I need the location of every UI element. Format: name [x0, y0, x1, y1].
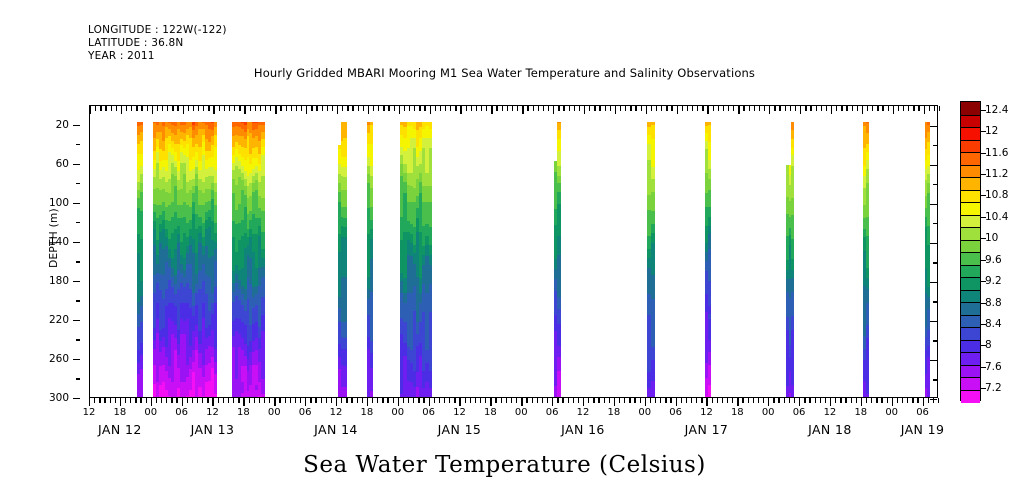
time-tick: [835, 398, 836, 403]
profile-slice: [261, 106, 265, 397]
time-tick-top: [116, 106, 117, 111]
time-tick-top: [141, 106, 142, 111]
time-tick-top: [569, 106, 570, 111]
time-tick: [418, 398, 419, 403]
time-tick-top: [136, 106, 137, 111]
colorbar-tick: [981, 110, 986, 111]
time-tick-top: [208, 106, 209, 111]
time-tick: [423, 398, 424, 403]
time-tick-label: 00: [268, 407, 281, 418]
colorbar-tick: [981, 153, 986, 154]
time-tick-top: [486, 106, 487, 111]
time-tick-top: [702, 106, 703, 111]
time-tick-label: 18: [113, 407, 126, 418]
time-tick-top: [491, 106, 492, 114]
time-tick: [171, 398, 172, 403]
time-tick-top: [574, 106, 575, 111]
time-tick: [444, 398, 445, 403]
colorbar-band-divider: [961, 365, 980, 366]
time-tick-top: [280, 106, 281, 111]
time-tick-top: [579, 106, 580, 111]
time-tick-top: [831, 106, 832, 114]
time-tick: [197, 398, 198, 403]
time-tick-top: [250, 106, 251, 111]
time-tick: [387, 398, 388, 403]
depth-tick-right: [933, 262, 937, 263]
time-tick-top: [383, 106, 384, 111]
time-tick-top: [337, 106, 338, 114]
colorbar-tick-label: 8.8: [985, 297, 1002, 309]
temperature-section-plot: [89, 105, 938, 398]
time-tick: [923, 398, 924, 406]
time-tick: [403, 398, 404, 403]
time-tick: [681, 398, 682, 403]
colorbar-tick-label: 8.4: [985, 318, 1002, 330]
time-tick-label: 00: [391, 407, 404, 418]
longitude-text: LONGITUDE : 122W(-122): [88, 24, 227, 37]
time-tick-label: 00: [638, 407, 651, 418]
colorbar-band-divider: [961, 390, 980, 391]
time-tick-top: [481, 106, 482, 111]
time-tick-top: [759, 106, 760, 111]
colorbar-tick: [981, 260, 986, 261]
time-tick-top: [414, 106, 415, 111]
time-tick: [701, 398, 702, 403]
time-tick-label: 06: [916, 407, 929, 418]
time-tick: [94, 398, 95, 403]
depth-tick: [76, 222, 80, 223]
time-tick-top: [342, 106, 343, 111]
time-tick: [912, 398, 913, 403]
time-tick-top: [620, 106, 621, 111]
time-tick-top: [435, 106, 436, 111]
time-tick-top: [841, 106, 842, 111]
depth-tick-right: [933, 340, 937, 341]
colorbar-tick: [981, 303, 986, 304]
depth-tick-label: 220: [49, 314, 69, 326]
time-tick: [794, 398, 795, 403]
time-tick-label: 12: [83, 407, 96, 418]
time-tick-top: [466, 106, 467, 111]
time-tick: [881, 398, 882, 403]
time-tick: [408, 398, 409, 403]
time-tick-top: [234, 106, 235, 111]
time-tick-top: [512, 106, 513, 111]
colorbar-band-divider: [961, 265, 980, 266]
time-tick-label: 12: [700, 407, 713, 418]
time-tick: [310, 398, 311, 403]
time-tick-top: [167, 106, 168, 111]
colorbar-tick-label: 10.8: [985, 189, 1008, 201]
time-tick-label: 06: [299, 407, 312, 418]
depth-tick: [73, 164, 80, 165]
colorbar-band: [961, 340, 980, 353]
depth-tick: [76, 261, 80, 262]
time-tick-top: [157, 106, 158, 111]
colorbar-band-divider: [961, 165, 980, 166]
colorbar-tick-label: 12: [985, 125, 998, 137]
time-tick-top: [924, 106, 925, 114]
depth-tick-right: [933, 145, 937, 146]
colorbar-tick: [981, 195, 986, 196]
colorbar-band: [961, 252, 980, 265]
colorbar-tick-label: 7.2: [985, 382, 1002, 394]
time-tick: [228, 398, 229, 403]
time-tick: [439, 398, 440, 403]
depth-tick: [76, 183, 80, 184]
time-tick-label: 00: [885, 407, 898, 418]
time-tick: [650, 398, 651, 403]
depth-tick-label: 60: [56, 158, 69, 170]
colorbar-band: [961, 115, 980, 128]
time-tick-top: [816, 106, 817, 111]
time-tick-top: [347, 106, 348, 111]
time-tick: [815, 398, 816, 403]
time-tick: [413, 398, 414, 403]
time-tick-top: [126, 106, 127, 111]
time-tick-top: [594, 106, 595, 111]
plot-data-area: [90, 106, 937, 397]
colorbar-band-divider: [961, 127, 980, 128]
time-tick: [506, 398, 507, 403]
time-tick-top: [641, 106, 642, 111]
time-tick-top: [327, 106, 328, 111]
time-tick: [753, 398, 754, 403]
time-tick-label: 18: [360, 407, 373, 418]
time-tick-top: [430, 106, 431, 114]
time-tick-top: [656, 106, 657, 111]
time-tick-top: [260, 106, 261, 111]
time-tick: [526, 398, 527, 403]
time-tick: [459, 398, 460, 406]
time-tick-top: [800, 106, 801, 114]
time-tick-top: [424, 106, 425, 111]
colorbar-band: [961, 352, 980, 365]
colorbar-band: [961, 202, 980, 215]
time-tick: [480, 398, 481, 403]
time-tick: [187, 398, 188, 403]
colorbar-band-divider: [961, 340, 980, 341]
colorbar-band-divider: [961, 290, 980, 291]
colorbar-tick-label: 10: [985, 232, 998, 244]
time-tick-top: [322, 106, 323, 111]
depth-axis-title: DEPTH (m): [48, 178, 60, 298]
day-label: JAN 17: [685, 422, 729, 437]
time-tick-top: [846, 106, 847, 111]
time-tick: [166, 398, 167, 403]
colorbar-band-divider: [961, 352, 980, 353]
time-tick-top: [502, 106, 503, 111]
colorbar-band: [961, 302, 980, 315]
profile-slice: [214, 106, 218, 397]
time-tick-top: [265, 106, 266, 111]
time-tick: [290, 398, 291, 403]
colorbar-band: [961, 190, 980, 203]
time-tick: [691, 398, 692, 403]
colorbar-band: [961, 315, 980, 328]
block-jan13-0000-1230: [153, 106, 216, 397]
time-tick-top: [723, 106, 724, 111]
time-tick: [706, 398, 707, 406]
time-tick: [449, 398, 450, 403]
time-tick: [717, 398, 718, 403]
time-tick: [223, 398, 224, 403]
time-tick-top: [440, 106, 441, 111]
time-tick-top: [162, 106, 163, 111]
chart-title: Hourly Gridded MBARI Mooring M1 Sea Wate…: [0, 66, 1009, 80]
colorbar-tick-label: 9.2: [985, 275, 1002, 287]
time-tick-label: 06: [669, 407, 682, 418]
time-tick: [135, 398, 136, 403]
time-tick: [305, 398, 306, 406]
depth-tick: [73, 203, 80, 204]
time-tick: [238, 398, 239, 403]
time-tick: [176, 398, 177, 403]
time-tick: [609, 398, 610, 403]
day-label: JAN 14: [314, 422, 358, 437]
time-tick-top: [543, 106, 544, 111]
time-tick: [655, 398, 656, 403]
time-tick: [321, 398, 322, 403]
time-tick-top: [769, 106, 770, 114]
time-tick-top: [646, 106, 647, 114]
time-tick-top: [687, 106, 688, 111]
time-tick-label: 06: [793, 407, 806, 418]
time-tick-top: [229, 106, 230, 111]
time-tick-top: [852, 106, 853, 111]
time-tick: [727, 398, 728, 403]
time-tick: [218, 398, 219, 403]
colorbar-band-divider: [961, 152, 980, 153]
time-tick-top: [795, 106, 796, 111]
block-jan16-0600: [554, 106, 560, 397]
time-tick-top: [183, 106, 184, 114]
time-tick: [938, 398, 939, 403]
time-tick-top: [764, 106, 765, 111]
time-tick: [382, 398, 383, 403]
time-tick-label: 18: [731, 407, 744, 418]
depth-tick: [73, 320, 80, 321]
time-tick: [537, 398, 538, 403]
colorbar-band: [961, 227, 980, 240]
time-tick: [902, 398, 903, 403]
time-tick: [182, 398, 183, 406]
time-tick-label: 06: [422, 407, 435, 418]
time-tick-top: [682, 106, 683, 111]
time-tick: [99, 398, 100, 403]
time-tick: [212, 398, 213, 406]
time-tick: [593, 398, 594, 403]
time-tick-top: [718, 106, 719, 111]
time-tick: [722, 398, 723, 403]
day-label: JAN 12: [98, 422, 142, 437]
time-tick: [254, 398, 255, 403]
time-tick: [876, 398, 877, 403]
colorbar-band: [961, 140, 980, 153]
time-tick-top: [522, 106, 523, 114]
block-jan19-0600: [925, 106, 930, 397]
colorbar-band: [961, 102, 980, 115]
time-tick: [470, 398, 471, 403]
time-tick-top: [213, 106, 214, 114]
time-tick-top: [872, 106, 873, 111]
profile-slice: [343, 106, 346, 397]
time-tick-top: [152, 106, 153, 114]
depth-tick-right: [930, 360, 937, 361]
time-tick: [89, 398, 90, 406]
time-tick-top: [373, 106, 374, 111]
time-tick-top: [538, 106, 539, 111]
time-tick: [243, 398, 244, 406]
colorbar-band: [961, 240, 980, 253]
depth-tick: [76, 339, 80, 340]
time-tick-top: [450, 106, 451, 111]
time-tick: [362, 398, 363, 403]
time-tick-top: [599, 106, 600, 111]
time-tick-top: [131, 106, 132, 111]
colorbar-band-divider: [961, 315, 980, 316]
time-tick-top: [558, 106, 559, 111]
time-tick-top: [121, 106, 122, 114]
colorbar-tick-label: 11.6: [985, 147, 1008, 159]
block-jan17-0000: [647, 106, 654, 397]
time-tick-top: [939, 106, 940, 111]
time-tick: [629, 398, 630, 403]
depth-tick-label: 260: [49, 353, 69, 365]
depth-tick-right: [933, 301, 937, 302]
time-tick: [742, 398, 743, 403]
time-tick-top: [404, 106, 405, 111]
time-tick: [578, 398, 579, 403]
time-tick: [151, 398, 152, 406]
time-tick: [351, 398, 352, 403]
block-jan15-0000-0600: [400, 106, 431, 397]
time-tick: [202, 398, 203, 403]
time-tick-top: [666, 106, 667, 111]
time-tick: [475, 398, 476, 403]
time-tick: [598, 398, 599, 403]
day-label: JAN 13: [191, 422, 235, 437]
profile-slice: [866, 106, 869, 397]
latitude-text: LATITUDE : 36.8N: [88, 37, 227, 50]
time-tick-top: [219, 106, 220, 111]
colorbar-band: [961, 152, 980, 165]
colorbar-band: [961, 215, 980, 228]
time-tick: [634, 398, 635, 403]
time-tick: [557, 398, 558, 403]
depth-tick-right: [930, 204, 937, 205]
colorbar-band: [961, 390, 980, 403]
time-tick: [871, 398, 872, 403]
time-tick: [326, 398, 327, 403]
time-tick-label: 18: [607, 407, 620, 418]
time-tick: [495, 398, 496, 403]
time-tick-top: [255, 106, 256, 111]
time-tick: [712, 398, 713, 403]
time-tick-top: [548, 106, 549, 111]
time-tick-top: [749, 106, 750, 111]
plot-caption: Sea Water Temperature (Celsius): [0, 452, 1009, 478]
time-tick-top: [862, 106, 863, 114]
time-tick-top: [306, 106, 307, 114]
time-tick-top: [692, 106, 693, 111]
time-tick: [485, 398, 486, 403]
time-tick: [547, 398, 548, 403]
depth-tick-right: [933, 223, 937, 224]
time-tick: [192, 398, 193, 403]
temperature-colorbar: [960, 101, 981, 401]
time-tick: [840, 398, 841, 403]
depth-tick: [73, 125, 80, 126]
time-tick-top: [460, 106, 461, 114]
colorbar-band-divider: [961, 327, 980, 328]
time-tick: [686, 398, 687, 403]
time-tick-top: [630, 106, 631, 111]
colorbar-band-divider: [961, 377, 980, 378]
time-tick: [249, 398, 250, 403]
time-tick-top: [286, 106, 287, 111]
time-tick: [809, 398, 810, 403]
time-tick-top: [533, 106, 534, 111]
time-tick: [367, 398, 368, 406]
time-tick-top: [496, 106, 497, 111]
time-tick: [156, 398, 157, 403]
time-tick-top: [332, 106, 333, 111]
depth-tick-right: [930, 399, 937, 400]
colorbar-band-divider: [961, 240, 980, 241]
time-tick-top: [239, 106, 240, 111]
time-tick-top: [898, 106, 899, 111]
time-tick: [501, 398, 502, 403]
depth-tick-right: [930, 126, 937, 127]
time-tick: [928, 398, 929, 403]
time-tick-top: [790, 106, 791, 111]
time-tick-top: [147, 106, 148, 111]
time-tick-top: [713, 106, 714, 111]
time-tick-top: [291, 106, 292, 111]
time-tick-top: [188, 106, 189, 111]
time-tick-top: [738, 106, 739, 114]
time-tick: [604, 398, 605, 403]
depth-tick-label: 300: [49, 392, 69, 404]
time-tick-top: [172, 106, 173, 111]
time-tick: [763, 398, 764, 403]
block-jan13-1530-2130: [232, 106, 264, 397]
time-tick: [516, 398, 517, 403]
header-metadata: LONGITUDE : 122W(-122) LATITUDE : 36.8N …: [88, 24, 227, 64]
time-tick-top: [934, 106, 935, 111]
time-tick-top: [517, 106, 518, 111]
time-tick: [696, 398, 697, 403]
time-tick-top: [388, 106, 389, 111]
time-tick: [104, 398, 105, 403]
time-tick-top: [810, 106, 811, 111]
time-tick-top: [507, 106, 508, 111]
time-tick-top: [471, 106, 472, 111]
time-tick-top: [918, 106, 919, 111]
time-tick: [146, 398, 147, 403]
time-tick-top: [671, 106, 672, 111]
time-tick: [521, 398, 522, 406]
colorbar-tick: [981, 367, 986, 368]
time-tick: [300, 398, 301, 403]
colorbar-tick: [981, 388, 986, 389]
time-tick: [892, 398, 893, 406]
profile-slice: [429, 106, 433, 397]
time-tick-top: [409, 106, 410, 111]
time-tick-top: [455, 106, 456, 111]
time-tick-top: [728, 106, 729, 111]
